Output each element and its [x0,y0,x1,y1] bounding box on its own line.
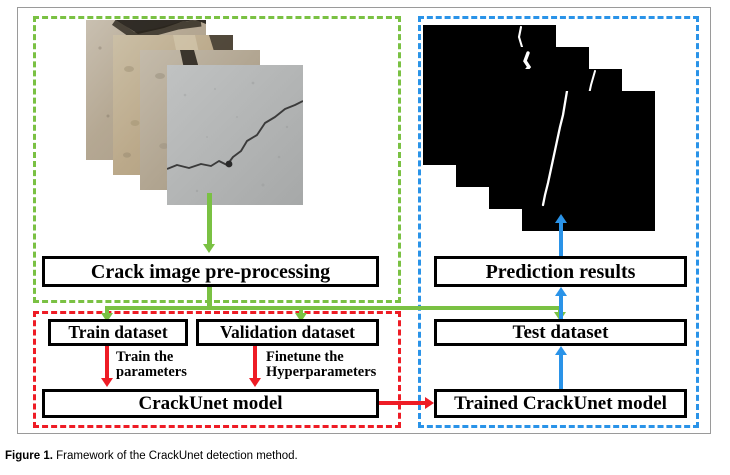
arrowhead-model-to-trained-model [425,397,434,409]
box-crack-image-preprocessing[interactable]: Crack image pre-processing [42,256,379,287]
annotation-train-line-2: parameters [116,365,187,380]
prediction-mask-stack [423,25,655,231]
annotation-finetune-line-1: Finetune the [266,350,376,365]
box-train-dataset[interactable]: Train dataset [48,319,188,346]
figure-caption: Figure 1. Framework of the CrackUnet det… [5,450,298,462]
connector-test-to-prediction [559,294,563,319]
arrowhead-photos-to-preprocess [203,244,215,253]
crack-photo-4 [167,65,303,205]
connector-prediction-to-masks [559,221,563,256]
figure-frame: Crack image pre-processing Train dataset… [17,7,711,434]
arrowhead-trained-model-to-test [555,346,567,355]
box-validation-dataset[interactable]: Validation dataset [196,319,379,346]
connector-trained-model-to-test [559,353,563,389]
figure-caption-text: Framework of the CrackUnet detection met… [56,450,298,462]
arrowhead-test-to-prediction [555,287,567,296]
arrowhead-validation-to-model [249,378,261,387]
connector-preprocess-distributor [105,306,561,310]
annotation-finetune-line-2: Hyperparameters [266,365,376,380]
prediction-mask-4 [522,91,655,231]
annotation-train-the-parameters: Train the parameters [116,350,187,380]
connector-train-to-model [105,346,109,380]
box-trained-crackunet-model[interactable]: Trained CrackUnet model [434,389,687,418]
arrowhead-prediction-to-masks [555,214,567,223]
connector-photos-to-preprocess [207,193,212,245]
connector-validation-to-model [253,346,257,380]
annotation-finetune-the-hyperparameters: Finetune the Hyperparameters [266,350,376,380]
box-test-dataset[interactable]: Test dataset [434,319,687,346]
figure-caption-label: Figure 1. [5,450,53,462]
crack-photo-stack [86,20,303,205]
annotation-train-line-1: Train the [116,350,187,365]
connector-model-to-trained-model [379,401,427,405]
arrowhead-train-to-model [101,378,113,387]
box-prediction-results[interactable]: Prediction results [434,256,687,287]
box-crackunet-model[interactable]: CrackUnet model [42,389,379,418]
